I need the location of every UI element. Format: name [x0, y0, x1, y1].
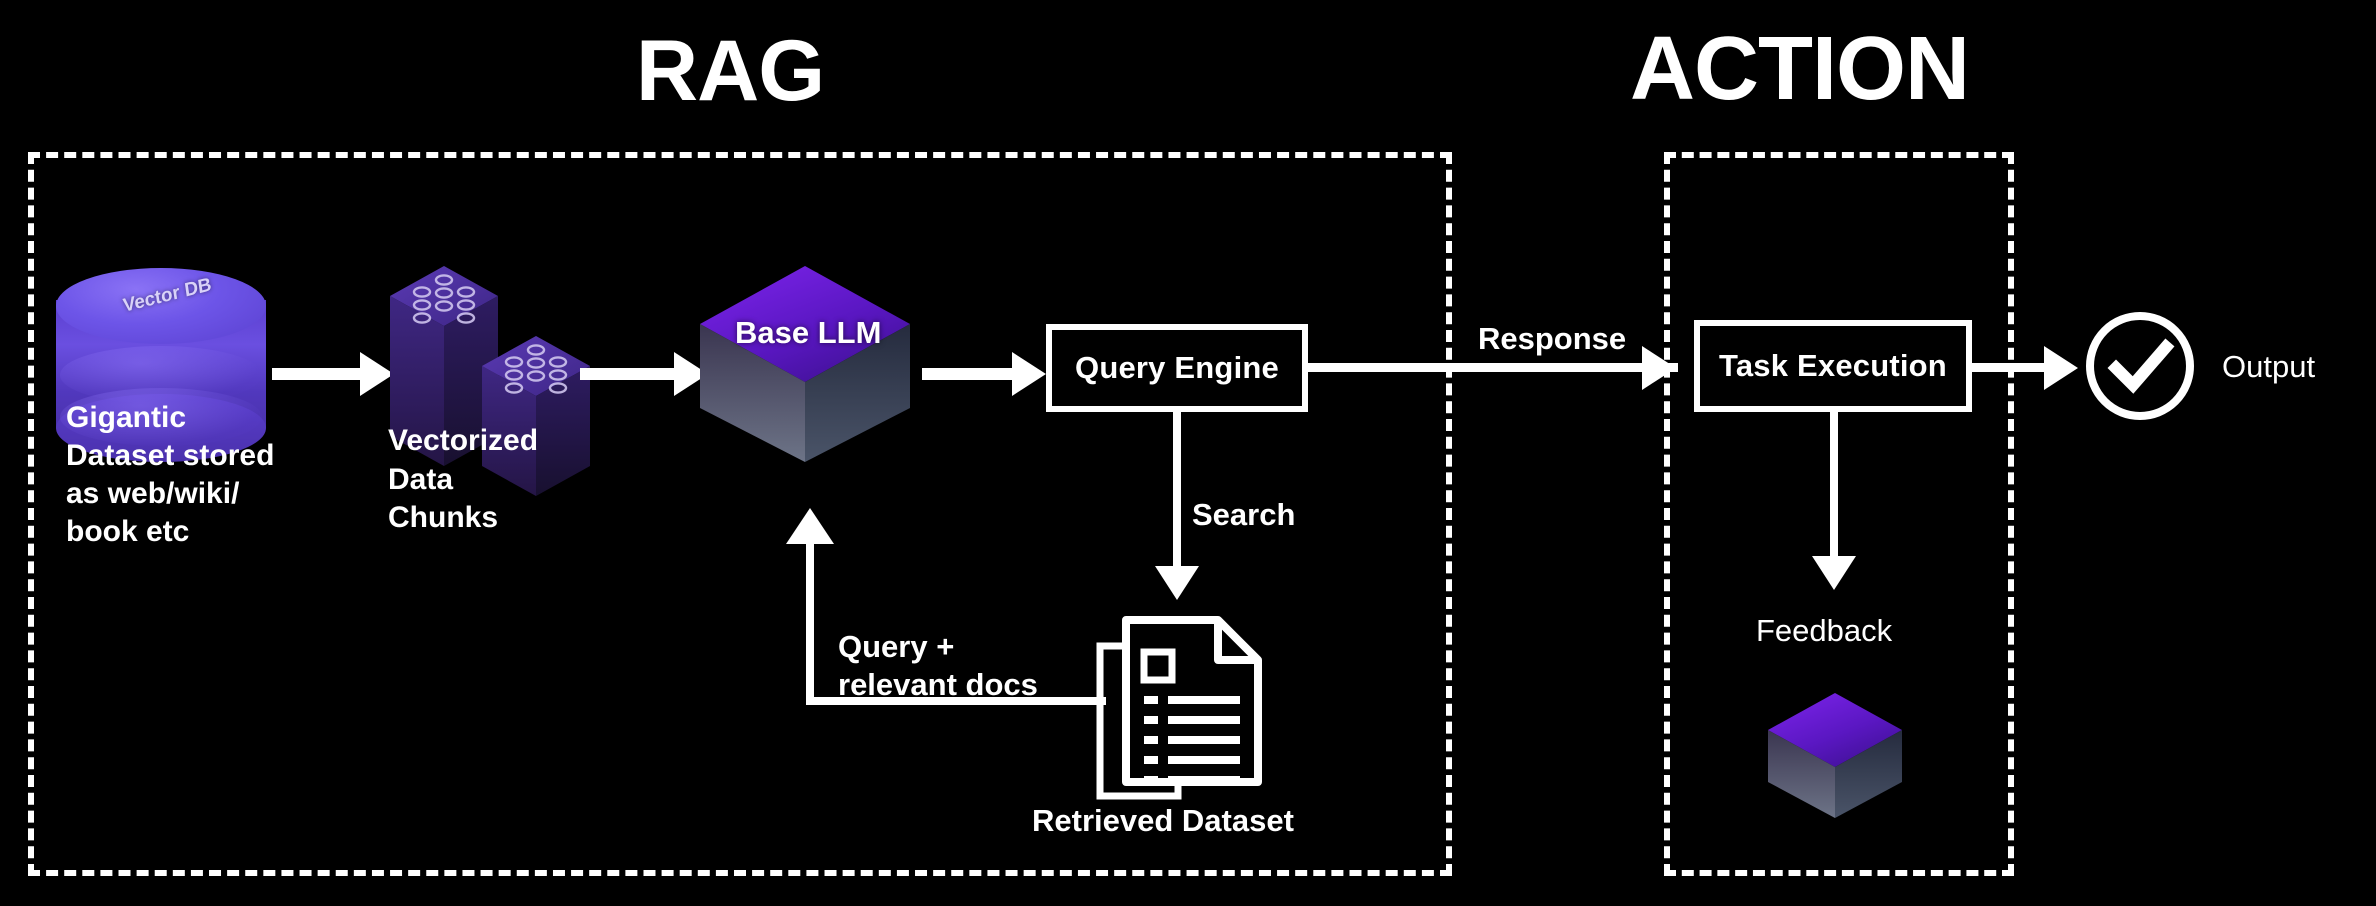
arrow-task-to-output-head	[2044, 346, 2078, 390]
task-execution-node[interactable]: Task Execution	[1694, 320, 1972, 412]
output-check-circle-icon	[2086, 312, 2194, 420]
vector-db-caption-line-3: as web/wiki/	[66, 476, 239, 513]
arrow-search-shaft	[1173, 412, 1181, 572]
retrieved-dataset-label: Retrieved Dataset	[1032, 802, 1294, 840]
task-execution-label: Task Execution	[1719, 348, 1947, 384]
retrieved-dataset-documents-icon	[1092, 610, 1272, 805]
arrow-response-head	[1642, 346, 1676, 390]
arrow-llm-to-query-head	[1012, 352, 1046, 396]
edge-label-relevant-docs: relevant docs	[838, 666, 1038, 704]
base-llm-cube-icon	[690, 262, 920, 472]
query-engine-label: Query Engine	[1075, 350, 1279, 386]
arrow-query-docs-vertical	[806, 540, 814, 700]
arrow-search-head	[1155, 566, 1199, 600]
section-title-action: ACTION	[1630, 24, 1969, 114]
tower-2	[482, 336, 590, 496]
arrow-task-to-feedback-shaft	[1830, 412, 1838, 562]
arrow-query-docs-head	[786, 508, 834, 544]
arrow-task-to-feedback-head	[1812, 556, 1856, 590]
diagram-canvas: RAG ACTION Vector DB Gigantic Dataset st…	[0, 0, 2376, 906]
vectorized-caption-line-3: Chunks	[388, 500, 498, 537]
arrow-db-to-chunks-shaft	[272, 368, 362, 380]
vector-db-caption-line-4: book etc	[66, 514, 189, 551]
edge-label-query-plus: Query +	[838, 628, 954, 666]
feedback-label: Feedback	[1756, 612, 1892, 650]
query-engine-node[interactable]: Query Engine	[1046, 324, 1308, 412]
section-title-rag: RAG	[636, 28, 824, 114]
vectorized-caption-line-2: Data	[388, 462, 453, 499]
vector-db-caption-line-1: Gigantic	[66, 400, 186, 437]
output-label: Output	[2222, 348, 2315, 386]
arrow-response-shaft	[1308, 363, 1678, 372]
edge-label-response: Response	[1478, 320, 1626, 358]
arrow-llm-to-query-shaft	[922, 368, 1014, 380]
vectorized-caption-line-1: Vectorized	[388, 423, 538, 460]
feedback-cube-icon	[1762, 690, 1908, 824]
base-llm-label: Base LLM	[735, 314, 881, 352]
vector-db-caption-line-2: Dataset stored	[66, 438, 274, 475]
edge-label-search: Search	[1192, 496, 1295, 534]
arrow-chunks-to-llm-shaft	[580, 368, 676, 380]
check-icon	[2094, 320, 2186, 412]
